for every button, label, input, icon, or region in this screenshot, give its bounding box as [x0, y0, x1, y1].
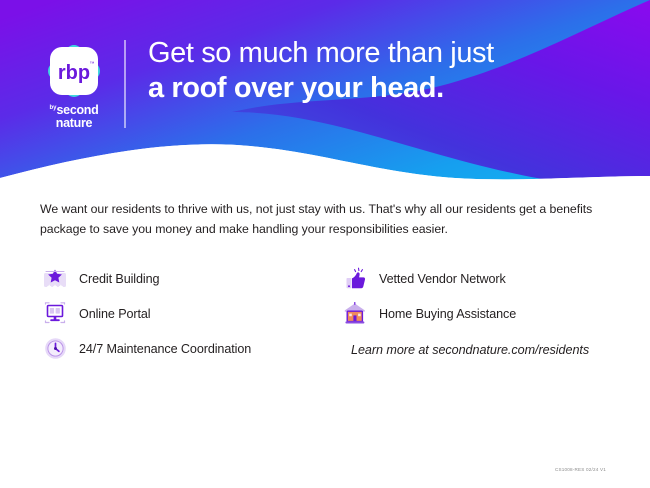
- learn-more-link[interactable]: Learn more at secondnature.com/residents: [351, 343, 610, 357]
- brand-wordmark-line2: nature: [50, 117, 99, 130]
- rbp-logo-mark-icon: rbp ™: [45, 42, 103, 100]
- house-icon: [340, 300, 370, 328]
- brand-wordmark: bysecond nature: [50, 104, 99, 129]
- headline-line-1: Get so much more than just: [148, 36, 650, 71]
- hero-vertical-divider: [124, 40, 126, 128]
- main-content: We want our residents to thrive with us,…: [0, 200, 650, 367]
- benefits-column-left: Credit Building: [40, 262, 340, 367]
- benefit-item-home-buying-assistance: Home Buying Assistance: [340, 297, 610, 331]
- desktop-monitor-icon: [40, 300, 70, 328]
- benefit-item-maintenance: 24/7 Maintenance Coordination: [40, 332, 340, 366]
- brand-wordmark-by: by: [50, 105, 57, 111]
- benefit-label: 24/7 Maintenance Coordination: [79, 342, 251, 356]
- hero-headline: Get so much more than just a roof over y…: [148, 36, 650, 107]
- svg-text:™: ™: [90, 61, 95, 67]
- credit-score-card-icon: [40, 265, 70, 293]
- intro-paragraph: We want our residents to thrive with us,…: [40, 200, 600, 240]
- benefit-item-vetted-vendor-network: Vetted Vendor Network: [340, 262, 610, 296]
- clock-icon: [40, 335, 70, 363]
- benefit-label: Vetted Vendor Network: [379, 272, 506, 286]
- benefit-item-credit-building: Credit Building: [40, 262, 340, 296]
- brand-logo: rbp ™ bysecond nature: [36, 36, 112, 129]
- flyer-page: rbp ™ bysecond nature Get so much more t…: [0, 0, 650, 488]
- benefit-label: Home Buying Assistance: [379, 307, 516, 321]
- benefits-list: Credit Building: [40, 262, 610, 367]
- benefit-label: Credit Building: [79, 272, 159, 286]
- hero-content: rbp ™ bysecond nature Get so much more t…: [0, 0, 650, 190]
- headline-line-2: a roof over your head.: [148, 71, 650, 106]
- benefit-item-online-portal: Online Portal: [40, 297, 340, 331]
- benefits-column-right: Vetted Vendor Network: [340, 262, 610, 367]
- thumbs-up-icon: [340, 265, 370, 293]
- benefit-label: Online Portal: [79, 307, 151, 321]
- svg-text:rbp: rbp: [58, 62, 90, 84]
- brand-wordmark-line1: second: [57, 103, 99, 117]
- document-code: CS1008-RES 02/24 V1: [555, 467, 606, 472]
- hero-banner: rbp ™ bysecond nature Get so much more t…: [0, 0, 650, 190]
